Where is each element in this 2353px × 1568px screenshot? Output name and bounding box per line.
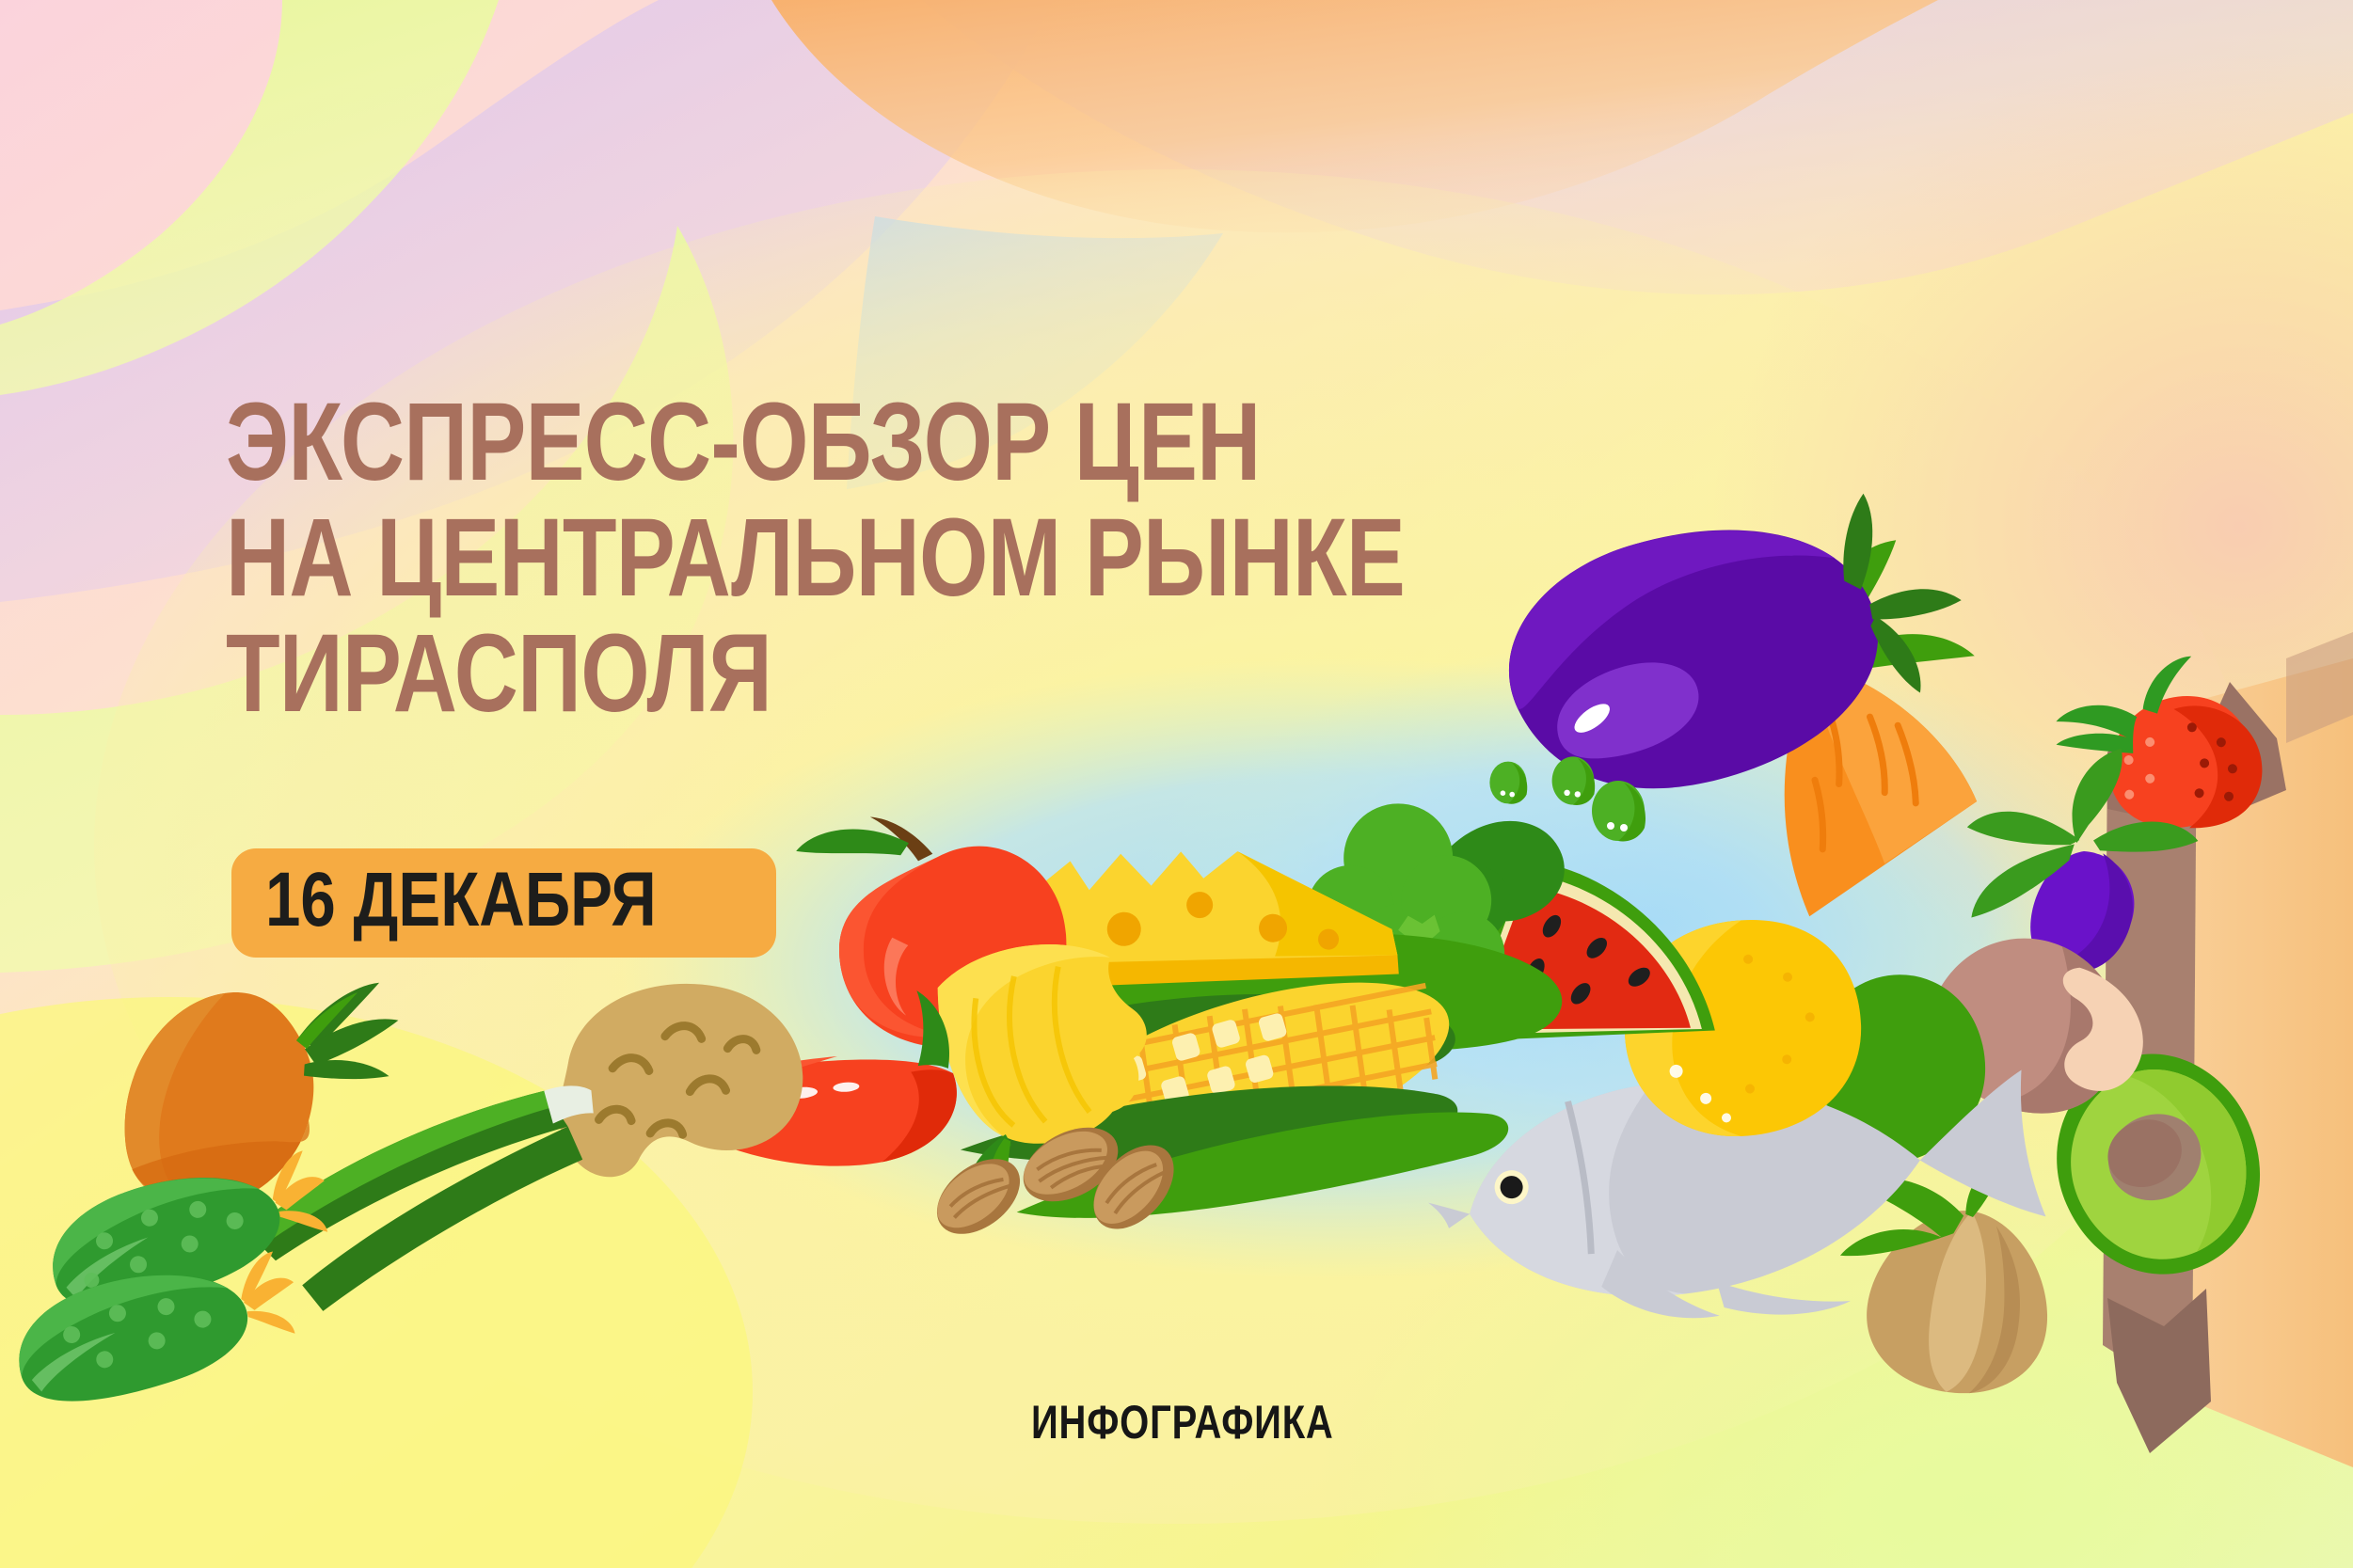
date-badge-label: 16 ДЕКАБРЯ <box>265 862 657 939</box>
date-badge: 16 ДЕКАБРЯ <box>231 848 776 958</box>
page-title: ЭКСПРЕСС-ОБЗОР ЦЕН НА ЦЕНТРАЛЬНОМ РЫНКЕ … <box>226 388 1562 734</box>
poster-canvas: ЭКСПРЕСС-ОБЗОР ЦЕН НА ЦЕНТРАЛЬНОМ РЫНКЕ … <box>0 0 2353 1568</box>
food-illustration-art <box>0 0 2353 1568</box>
title-line-1: ЭКСПРЕСС-ОБЗОР ЦЕН <box>226 388 1295 498</box>
infographic-label: ИНФОГРАФИКА <box>1031 1399 1409 1446</box>
infographic-label-text: ИНФОГРАФИКА <box>1031 1399 1334 1446</box>
title-line-2: НА ЦЕНТРАЛЬНОМ РЫНКЕ <box>226 503 1295 613</box>
title-line-3: ТИРАСПОЛЯ <box>226 619 1295 729</box>
